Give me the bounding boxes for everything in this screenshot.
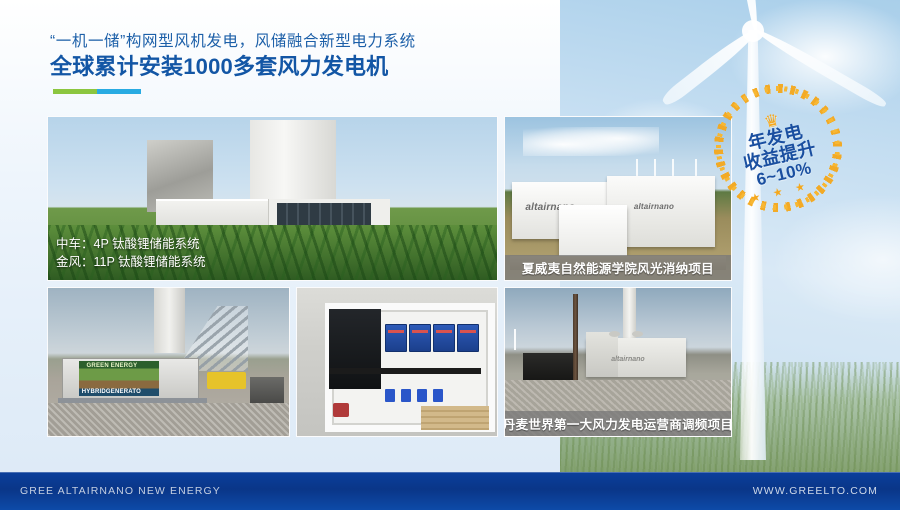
accent-underline (53, 89, 416, 94)
photo-label-hybrid-generator: HYBRIDGENERATO (82, 389, 141, 395)
footer-company-name: GREE ALTAIRNANO NEW ENERGY (20, 485, 221, 497)
accent-green (53, 89, 97, 94)
status-badge: ♛ 年发电 收益提升 6~10% ★ ★ ★ (713, 83, 843, 213)
star-icon: ★ (772, 187, 784, 200)
footer-bar: GREE ALTAIRNANO NEW ENERGY WWW.GREELTO.C… (0, 472, 900, 510)
photo-row-bottom: GREEN ENERGY HYBRIDGENERATO (47, 287, 732, 437)
photo-art (297, 288, 497, 436)
photo-label-green-energy: GREEN ENERGY (87, 363, 138, 369)
photo-battery-cabinet-interior[interactable] (296, 287, 498, 437)
footer-website[interactable]: WWW.GREELTO.COM (753, 485, 878, 497)
photo-china-crrc-goldwind-storage[interactable]: 中车：4P 钛酸锂储能系统 金风：11P 钛酸锂储能系统 (47, 116, 498, 281)
page-header: “一机一储”构网型风机发电，风储融合新型电力系统 全球累计安装1000多套风力发… (50, 32, 416, 94)
star-icon: ★ (750, 192, 762, 205)
caption-line-1: 中车：4P 钛酸锂储能系统 (56, 235, 206, 254)
star-icon: ★ (794, 182, 806, 195)
page-title: 全球累计安装1000多套风力发电机 (50, 53, 416, 82)
photo-denmark-frequency-regulation[interactable]: altairnano 丹麦世界第一大风力发电运营商调频项目 (504, 287, 732, 437)
photo-caption: 丹麦世界第一大风力发电运营商调频项目 (505, 411, 731, 436)
slide: “一机一储”构网型风机发电，风储融合新型电力系统 全球累计安装1000多套风力发… (0, 0, 900, 510)
photo-caption: 中车：4P 钛酸锂储能系统 金风：11P 钛酸锂储能系统 (56, 235, 206, 273)
photo-art: GREEN ENERGY HYBRIDGENERATO (48, 288, 289, 436)
photo-caption: 夏威夷自然能源学院风光消纳项目 (505, 255, 731, 280)
accent-blue (97, 89, 141, 94)
photo-brand-altairnano-small: altairnano (611, 356, 644, 363)
turbine-hub (742, 20, 764, 42)
photo-brand-altairnano-small: altairnano (634, 202, 674, 211)
photo-hawaii-nelha-project[interactable]: altairnano altairnano 夏威夷自然能源学院风光消纳项目 (504, 116, 732, 281)
photo-row-top: 中车：4P 钛酸锂储能系统 金风：11P 钛酸锂储能系统 altairnano … (47, 116, 732, 281)
header-subtitle: “一机一储”构网型风机发电，风储融合新型电力系统 (50, 32, 416, 51)
caption-line-2: 金风：11P 钛酸锂储能系统 (56, 253, 206, 272)
photo-hybrid-generator-trailer[interactable]: GREEN ENERGY HYBRIDGENERATO (47, 287, 290, 437)
photo-grid: 中车：4P 钛酸锂储能系统 金风：11P 钛酸锂储能系统 altairnano … (47, 116, 732, 437)
